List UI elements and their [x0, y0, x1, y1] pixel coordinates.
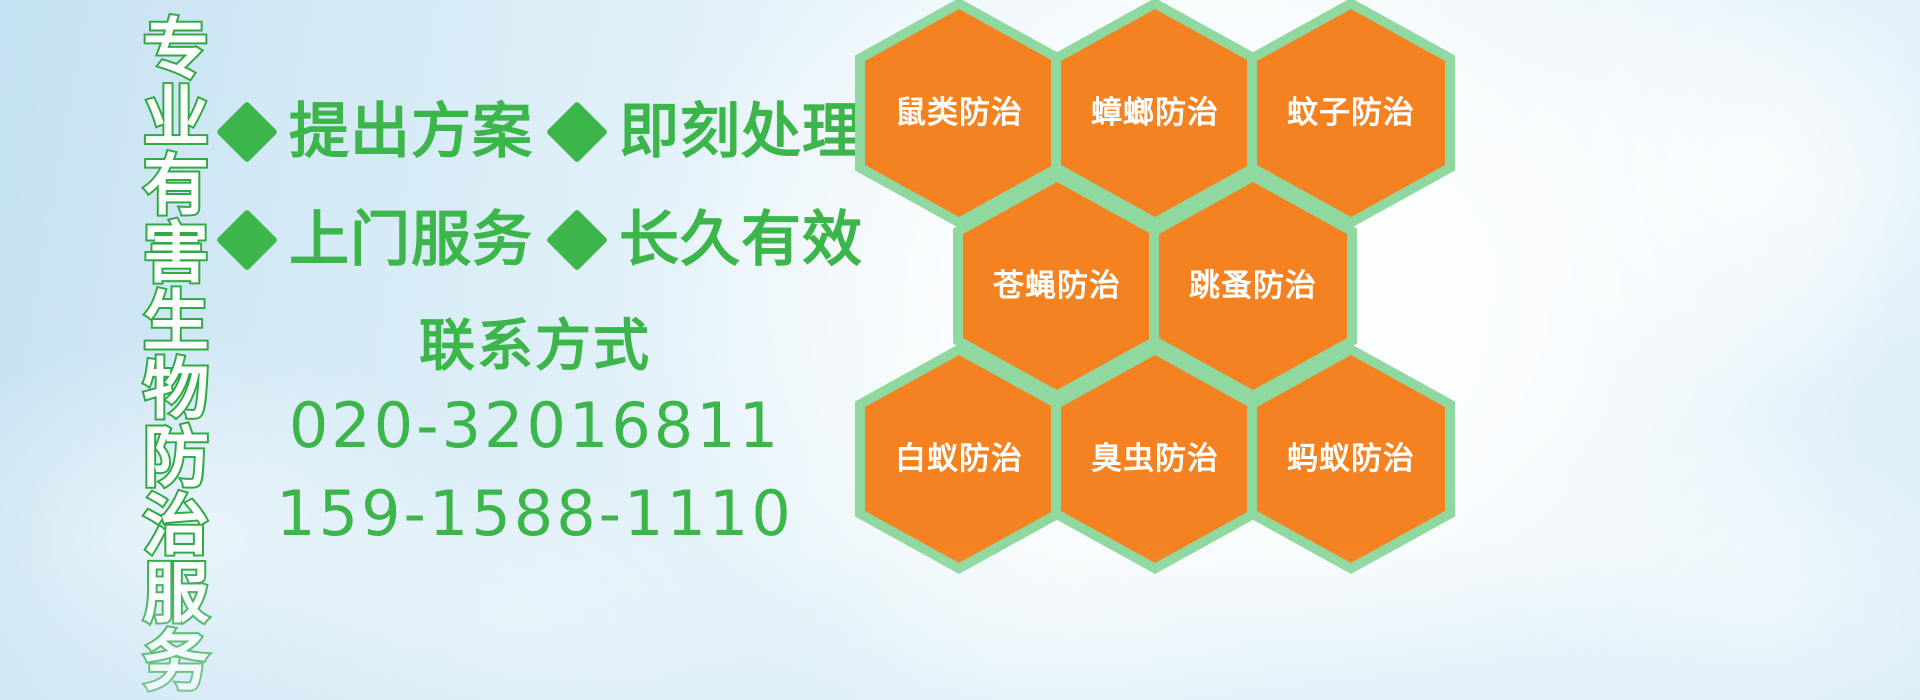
diamond-bullet-icon	[216, 101, 278, 163]
service-honeycomb: 鼠类防治 蟑螂防治 蚊子防治 苍蝇防治 跳蚤防治 白蚁防治	[855, 0, 1475, 700]
feature-label: 上门服务	[289, 210, 533, 270]
hex-inner: 臭虫防治	[1061, 355, 1249, 563]
hex-inner: 蟑螂防治	[1061, 9, 1249, 217]
diamond-bullet-icon	[216, 209, 278, 271]
banner-canvas: 专业有害生物防治服务 提出方案 即刻处理 上门服务 长久有效 联系方式	[0, 0, 1920, 700]
service-label: 鼠类防治	[895, 98, 1023, 129]
feature-list: 提出方案 即刻处理 上门服务 长久有效	[225, 78, 875, 294]
feature-label: 长久有效	[619, 210, 863, 270]
diamond-bullet-icon	[546, 101, 608, 163]
phone-number-landline: 020-32016811	[190, 382, 880, 470]
feature-row: 上门服务 长久有效	[225, 186, 875, 294]
service-label: 蟑螂防治	[1091, 98, 1219, 129]
service-label: 白蚁防治	[895, 444, 1023, 475]
feature-item: 提出方案	[225, 102, 533, 162]
background-light-bloom	[1500, 420, 1920, 700]
service-label: 蚊子防治	[1287, 98, 1415, 129]
diamond-bullet-icon	[546, 209, 608, 271]
hex-inner: 白蚁防治	[865, 355, 1053, 563]
feature-row: 提出方案 即刻处理	[225, 78, 875, 186]
feature-label: 提出方案	[289, 102, 533, 162]
service-label: 臭虫防治	[1091, 444, 1219, 475]
contact-heading: 联系方式	[190, 312, 880, 382]
hex-inner: 蚊子防治	[1257, 9, 1445, 217]
feature-label: 即刻处理	[619, 102, 863, 162]
hex-inner: 蚂蚁防治	[1257, 355, 1445, 563]
background-light-bloom	[1480, 0, 1920, 400]
feature-item: 长久有效	[555, 210, 863, 270]
hex-inner: 苍蝇防治	[963, 182, 1151, 390]
hex-inner: 鼠类防治	[865, 9, 1053, 217]
feature-item: 上门服务	[225, 210, 533, 270]
hex-inner: 跳蚤防治	[1159, 182, 1347, 390]
service-label: 蚂蚁防治	[1287, 444, 1415, 475]
phone-number-mobile: 159-1588-1110	[190, 470, 880, 558]
contact-block: 联系方式 020-32016811 159-1588-1110	[190, 312, 880, 558]
service-label: 跳蚤防治	[1189, 271, 1317, 302]
feature-item: 即刻处理	[555, 102, 863, 162]
service-label: 苍蝇防治	[993, 271, 1121, 302]
